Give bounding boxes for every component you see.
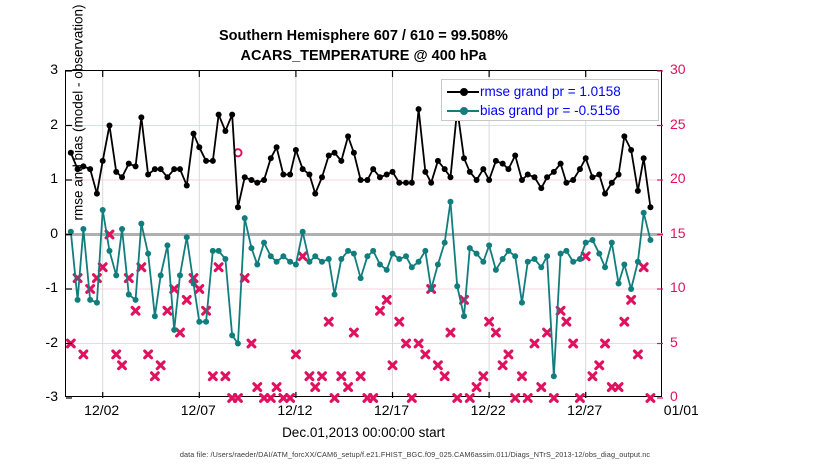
y-tick-label-right: 10: [670, 280, 710, 294]
y-tick-label-left: -3: [18, 389, 58, 403]
legend-marker-bias: [446, 104, 480, 118]
y-tick-label-left: 2: [18, 117, 58, 131]
chart-title: Southern Hemisphere 607 / 610 = 99.508% …: [65, 26, 662, 66]
y-tick-label-left: 0: [18, 226, 58, 240]
title-line-2: ACARS_TEMPERATURE @ 400 hPa: [65, 46, 662, 66]
y-tick-label-right: 0: [670, 389, 710, 403]
y-tick-label-left: 3: [18, 62, 58, 76]
x-tick-label: 12/27: [550, 402, 620, 418]
y-tick-label-right: 15: [670, 226, 710, 240]
y-tick-label-right: 25: [670, 117, 710, 131]
y-tick-label-left: 1: [18, 171, 58, 185]
data-file-footer: data file: /Users/raeder/DAI/ATM_forcXX/…: [0, 450, 830, 459]
y-tick-label-right: 5: [670, 335, 710, 349]
title-line-1: Southern Hemisphere 607 / 610 = 99.508%: [65, 26, 662, 46]
x-tick-label: 12/22: [453, 402, 523, 418]
legend-label-rmse: rmse grand pr = 1.0158: [480, 85, 621, 99]
x-tick-label: 12/02: [67, 402, 137, 418]
y-tick-label-right: 30: [670, 62, 710, 76]
y-axis-right-label-wrap: # of obs: o=possible; x=assimilated: [712, 110, 732, 370]
x-tick-label: 01/01: [646, 402, 716, 418]
x-tick-label: 12/17: [357, 402, 427, 418]
y-tick-label-left: -1: [18, 280, 58, 294]
figure-canvas: Southern Hemisphere 607 / 610 = 99.508% …: [0, 0, 830, 470]
chart-legend: rmse grand pr = 1.0158 bias grand pr = -…: [441, 79, 659, 121]
x-tick-label: 12/07: [163, 402, 233, 418]
x-tick-label: 12/12: [260, 402, 330, 418]
y-axis-left-label: rmse and bias (model - observation): [71, 0, 86, 243]
y-tick-label-right: 20: [670, 171, 710, 185]
legend-item-bias: bias grand pr = -0.5156: [446, 101, 654, 120]
legend-label-bias: bias grand pr = -0.5156: [480, 104, 620, 118]
legend-item-rmse: rmse grand pr = 1.0158: [446, 82, 654, 101]
rmse-series: [68, 106, 654, 210]
x-axis-label: Dec.01,2013 00:00:00 start: [65, 425, 662, 440]
y-tick-label-left: -2: [18, 335, 58, 349]
legend-marker-rmse: [446, 85, 480, 99]
